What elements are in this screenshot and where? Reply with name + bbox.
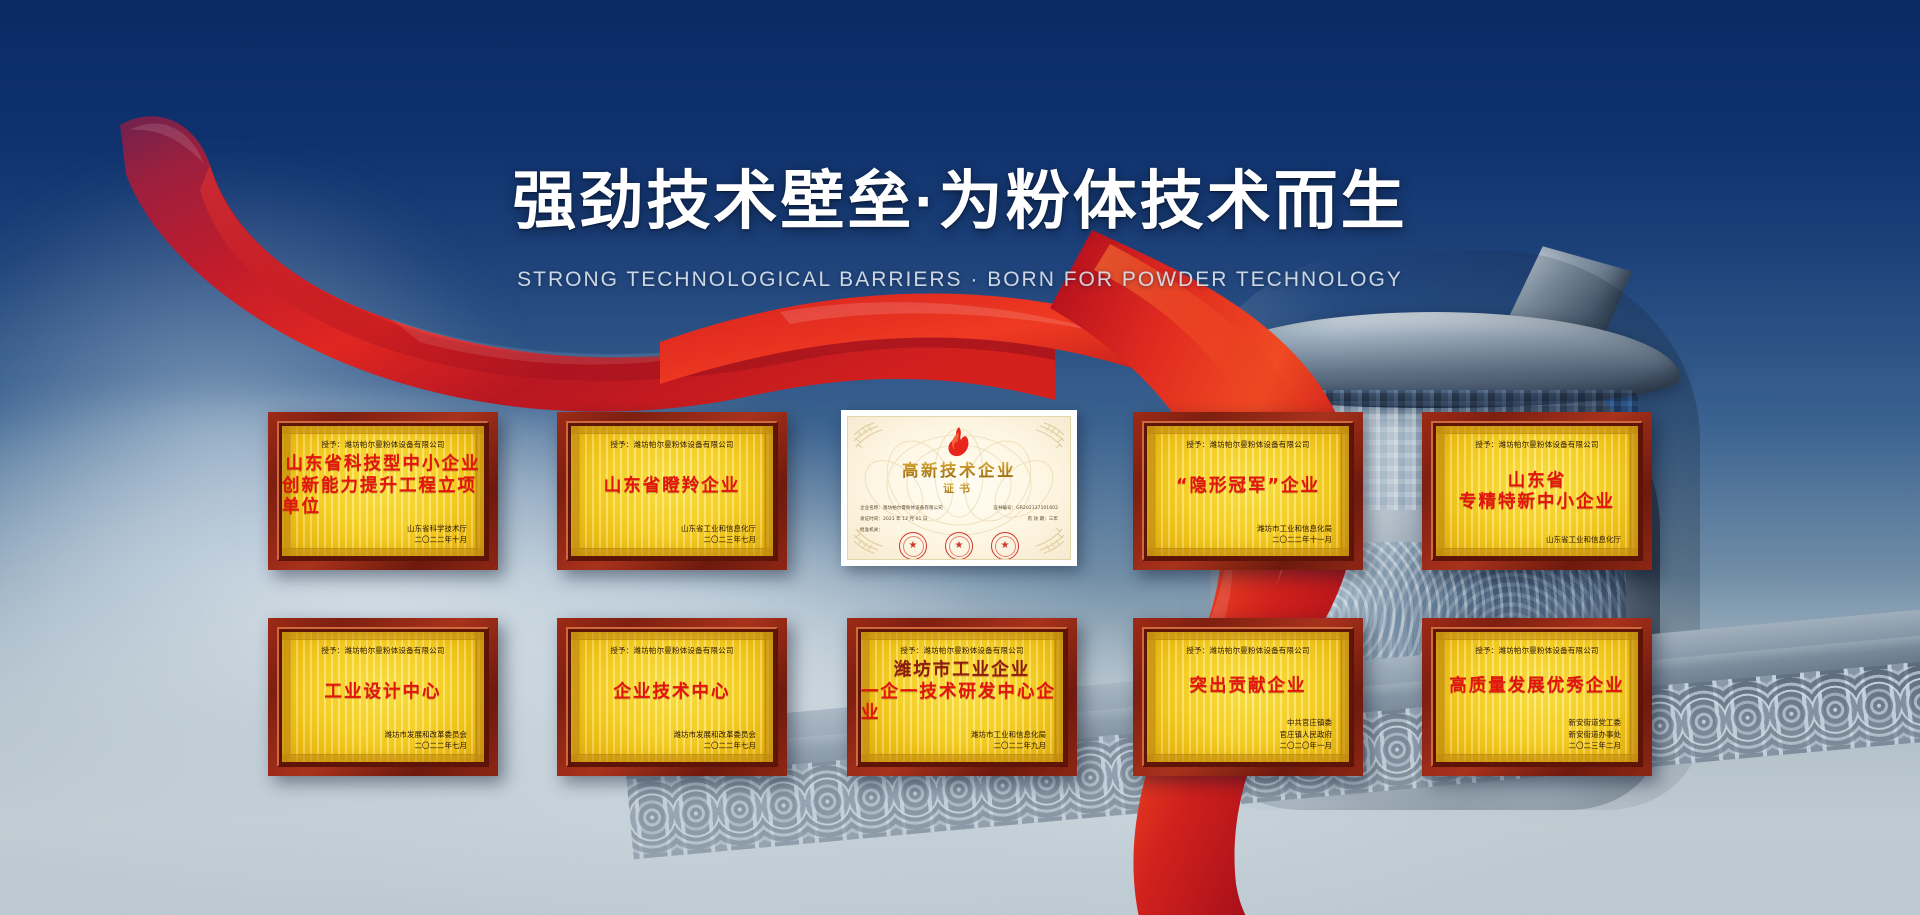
plaque-face: 授予：潍坊帕尔曼粉体设备有限公司 山东省 专精特新中小企业 山东省工业和信息化厅 <box>1436 426 1638 556</box>
plaque-award-line: 授予：潍坊帕尔曼粉体设备有限公司 <box>1186 645 1309 656</box>
plaque-face: 授予：潍坊帕尔曼粉体设备有限公司 “隐形冠军”企业 潍坊市工业和信息化局 二〇二… <box>1147 426 1349 556</box>
plaque-title-block: 高质量发展优秀企业 <box>1436 656 1638 717</box>
plaque-award-line: 授予：潍坊帕尔曼粉体设备有限公司 <box>321 439 444 450</box>
certificate-company-field: 企业名称：潍坊帕尔曼粉体设备有限公司 <box>860 505 943 511</box>
plaque-issuer-1: 新安街道党工委 <box>1436 717 1621 728</box>
plaque-date: 二〇二三年七月 <box>571 534 756 545</box>
plaque-issuer-1: 山东省工业和信息化厅 <box>571 523 756 534</box>
banner-stage: 强劲技术壁垒·为粉体技术而生 STRONG TECHNOLOGICAL BARR… <box>0 0 1920 915</box>
plaque-bevel: 授予：潍坊帕尔曼粉体设备有限公司 企业技术中心 潍坊市发展和改革委员会 二〇二二… <box>566 627 778 767</box>
plaque-award-line: 授予：潍坊帕尔曼粉体设备有限公司 <box>610 439 733 450</box>
plaque-footer: 新安街道党工委 新安街道办事处 二〇二三年二月 <box>1436 717 1638 762</box>
plaque-title-line-1: 山东省 <box>1508 471 1567 492</box>
plaque-title-line-1: 潍坊市工业企业 <box>894 660 1031 681</box>
plaque-issuer-1: 潍坊市发展和改革委员会 <box>571 729 756 740</box>
plaque-title-block: 山东省瞪羚企业 <box>571 450 773 523</box>
plaque-bevel: 授予：潍坊帕尔曼粉体设备有限公司 潍坊市工业企业 一企一技术研发中心企业 潍坊市… <box>856 627 1068 767</box>
plaque-footer: 潍坊市工业和信息化局 二〇二二年十一月 <box>1147 523 1349 557</box>
plaque-card[interactable]: 授予：潍坊帕尔曼粉体设备有限公司 山东省 专精特新中小企业 山东省工业和信息化厅 <box>1422 412 1652 570</box>
plaque-face: 授予：潍坊帕尔曼粉体设备有限公司 山东省科技型中小企业 创新能力提升工程立项单位… <box>282 426 484 556</box>
plaque-card[interactable]: 授予：潍坊帕尔曼粉体设备有限公司 潍坊市工业企业 一企一技术研发中心企业 潍坊市… <box>847 618 1077 776</box>
plaque-face: 授予：潍坊帕尔曼粉体设备有限公司 突出贡献企业 中共官庄镇委 官庄镇人民政府 二… <box>1147 632 1349 762</box>
official-seal-icon: ★ <box>945 532 973 560</box>
high-tech-certificate[interactable]: 高新技术企业 证书 企业名称：潍坊帕尔曼粉体设备有限公司 证书编号：GR2021… <box>841 410 1077 566</box>
plaque-card[interactable]: 授予：潍坊帕尔曼粉体设备有限公司 “隐形冠军”企业 潍坊市工业和信息化局 二〇二… <box>1133 412 1363 570</box>
plaque-title-block: 潍坊市工业企业 一企一技术研发中心企业 <box>861 656 1063 729</box>
plaque-card[interactable]: 授予：潍坊帕尔曼粉体设备有限公司 山东省科技型中小企业 创新能力提升工程立项单位… <box>268 412 498 570</box>
plaque-award-line: 授予：潍坊帕尔曼粉体设备有限公司 <box>321 645 444 656</box>
plaque-title-block: 工业设计中心 <box>282 656 484 729</box>
plaque-face: 授予：潍坊帕尔曼粉体设备有限公司 潍坊市工业企业 一企一技术研发中心企业 潍坊市… <box>861 632 1063 762</box>
plaque-bevel: 授予：潍坊帕尔曼粉体设备有限公司 突出贡献企业 中共官庄镇委 官庄镇人民政府 二… <box>1142 627 1354 767</box>
certificate-corner-ornament <box>1032 421 1066 455</box>
plaque-award-line: 授予：潍坊帕尔曼粉体设备有限公司 <box>610 645 733 656</box>
plaque-date: 二〇二二年十一月 <box>1147 534 1332 545</box>
certificate-field-row: 企业名称：潍坊帕尔曼粉体设备有限公司 证书编号：GR202137101602 <box>860 505 1058 511</box>
plaque-title-block: 突出贡献企业 <box>1147 656 1349 717</box>
official-seal-icon: ★ <box>899 532 927 560</box>
plaque-title-line-2: 一企一技术研发中心企业 <box>861 682 1063 725</box>
certificate-field-row: 发证时间：2021 年 12 月 01 日 有 效 期：三年 <box>860 516 1058 522</box>
plaque-face: 授予：潍坊帕尔曼粉体设备有限公司 山东省瞪羚企业 山东省工业和信息化厅 二〇二三… <box>571 426 773 556</box>
plaque-title-line-1: 高质量发展优秀企业 <box>1449 676 1625 697</box>
plaque-face: 授予：潍坊帕尔曼粉体设备有限公司 企业技术中心 潍坊市发展和改革委员会 二〇二二… <box>571 632 773 762</box>
plaque-face: 授予：潍坊帕尔曼粉体设备有限公司 高质量发展优秀企业 新安街道党工委 新安街道办… <box>1436 632 1638 762</box>
plaque-issuer-1: 山东省科学技术厅 <box>282 523 467 534</box>
innovation-flame-icon <box>944 426 974 458</box>
plaque-card[interactable]: 授予：潍坊帕尔曼粉体设备有限公司 突出贡献企业 中共官庄镇委 官庄镇人民政府 二… <box>1133 618 1363 776</box>
plaque-title-line-1: 山东省科技型中小企业 <box>286 454 481 475</box>
plaque-footer: 潍坊市发展和改革委员会 二〇二二年七月 <box>571 729 773 763</box>
certificate-number-field: 证书编号：GR202137101602 <box>993 505 1058 511</box>
page-subtitle: STRONG TECHNOLOGICAL BARRIERS · BORN FOR… <box>0 268 1920 292</box>
certificate-inner: 高新技术企业 证书 企业名称：潍坊帕尔曼粉体设备有限公司 证书编号：GR2021… <box>847 416 1071 560</box>
plaque-footer: 中共官庄镇委 官庄镇人民政府 二〇二〇年一月 <box>1147 717 1349 762</box>
plaque-title-block: 企业技术中心 <box>571 656 773 729</box>
plaque-date: 二〇二二年七月 <box>571 740 756 751</box>
certificate-seals: ★ ★ ★ <box>848 532 1070 560</box>
plaque-issuer-1: 潍坊市工业和信息化局 <box>1147 523 1332 534</box>
plaque-title-line-2: 创新能力提升工程立项单位 <box>282 476 484 519</box>
plaque-title-line-1: 突出贡献企业 <box>1190 676 1307 697</box>
plaque-date: 二〇二二年七月 <box>282 740 467 751</box>
plaque-title-line-1: 工业设计中心 <box>325 682 442 703</box>
certificate-validity-field: 有 效 期：三年 <box>1028 516 1059 522</box>
plaque-title-block: 山东省科技型中小企业 创新能力提升工程立项单位 <box>282 450 484 523</box>
plaque-bevel: 授予：潍坊帕尔曼粉体设备有限公司 工业设计中心 潍坊市发展和改革委员会 二〇二二… <box>277 627 489 767</box>
plaque-award-line: 授予：潍坊帕尔曼粉体设备有限公司 <box>1186 439 1309 450</box>
plaque-footer: 潍坊市发展和改革委员会 二〇二二年七月 <box>282 729 484 763</box>
plaque-title-block: 山东省 专精特新中小企业 <box>1436 450 1638 534</box>
plaque-date: 二〇二三年二月 <box>1436 740 1621 751</box>
plaque-title-line-1: 企业技术中心 <box>614 682 731 703</box>
certificate-issue-date-field: 发证时间：2021 年 12 月 01 日 <box>860 516 927 522</box>
plaque-footer: 山东省工业和信息化厅 <box>1436 534 1638 556</box>
plaque-issuer-1: 山东省工业和信息化厅 <box>1436 534 1621 545</box>
plaque-title-line-1: “隐形冠军”企业 <box>1176 476 1320 497</box>
plaque-card[interactable]: 授予：潍坊帕尔曼粉体设备有限公司 山东省瞪羚企业 山东省工业和信息化厅 二〇二三… <box>557 412 787 570</box>
plaque-date: 二〇二二年九月 <box>861 740 1046 751</box>
plaque-title-line-1: 山东省瞪羚企业 <box>604 476 741 497</box>
plaque-footer: 潍坊市工业和信息化局 二〇二二年九月 <box>861 729 1063 763</box>
plaque-award-line: 授予：潍坊帕尔曼粉体设备有限公司 <box>1475 439 1598 450</box>
plaque-footer: 山东省工业和信息化厅 二〇二三年七月 <box>571 523 773 557</box>
certificate-corner-ornament <box>852 421 886 455</box>
plaque-bevel: 授予：潍坊帕尔曼粉体设备有限公司 “隐形冠军”企业 潍坊市工业和信息化局 二〇二… <box>1142 421 1354 561</box>
plaque-card[interactable]: 授予：潍坊帕尔曼粉体设备有限公司 企业技术中心 潍坊市发展和改革委员会 二〇二二… <box>557 618 787 776</box>
plaque-bevel: 授予：潍坊帕尔曼粉体设备有限公司 山东省瞪羚企业 山东省工业和信息化厅 二〇二三… <box>566 421 778 561</box>
plaque-bevel: 授予：潍坊帕尔曼粉体设备有限公司 山东省 专精特新中小企业 山东省工业和信息化厅 <box>1431 421 1643 561</box>
plaque-title-block: “隐形冠军”企业 <box>1147 450 1349 523</box>
plaque-issuer-1: 潍坊市工业和信息化局 <box>861 729 1046 740</box>
plaque-footer: 山东省科学技术厅 二〇二二年十月 <box>282 523 484 557</box>
page-title: 强劲技术壁垒·为粉体技术而生 <box>0 150 1920 242</box>
certificate-subtitle: 证书 <box>848 480 1070 496</box>
plaque-date: 二〇二二年十月 <box>282 534 467 545</box>
plaque-issuer-1: 潍坊市发展和改革委员会 <box>282 729 467 740</box>
plaque-face: 授予：潍坊帕尔曼粉体设备有限公司 工业设计中心 潍坊市发展和改革委员会 二〇二二… <box>282 632 484 762</box>
plaque-card[interactable]: 授予：潍坊帕尔曼粉体设备有限公司 工业设计中心 潍坊市发展和改革委员会 二〇二二… <box>268 618 498 776</box>
plaque-title-line-2: 专精特新中小企业 <box>1459 492 1615 513</box>
plaque-issuer-2: 新安街道办事处 <box>1436 729 1621 740</box>
plaque-card[interactable]: 授予：潍坊帕尔曼粉体设备有限公司 高质量发展优秀企业 新安街道党工委 新安街道办… <box>1422 618 1652 776</box>
plaque-issuer-1: 中共官庄镇委 <box>1147 717 1332 728</box>
plaque-bevel: 授予：潍坊帕尔曼粉体设备有限公司 山东省科技型中小企业 创新能力提升工程立项单位… <box>277 421 489 561</box>
plaque-bevel: 授予：潍坊帕尔曼粉体设备有限公司 高质量发展优秀企业 新安街道党工委 新安街道办… <box>1431 627 1643 767</box>
plaque-award-line: 授予：潍坊帕尔曼粉体设备有限公司 <box>900 645 1023 656</box>
plaque-issuer-2: 官庄镇人民政府 <box>1147 729 1332 740</box>
plaque-award-line: 授予：潍坊帕尔曼粉体设备有限公司 <box>1475 645 1598 656</box>
certificate-title: 高新技术企业 <box>848 457 1070 481</box>
plaque-date: 二〇二〇年一月 <box>1147 740 1332 751</box>
official-seal-icon: ★ <box>991 532 1019 560</box>
